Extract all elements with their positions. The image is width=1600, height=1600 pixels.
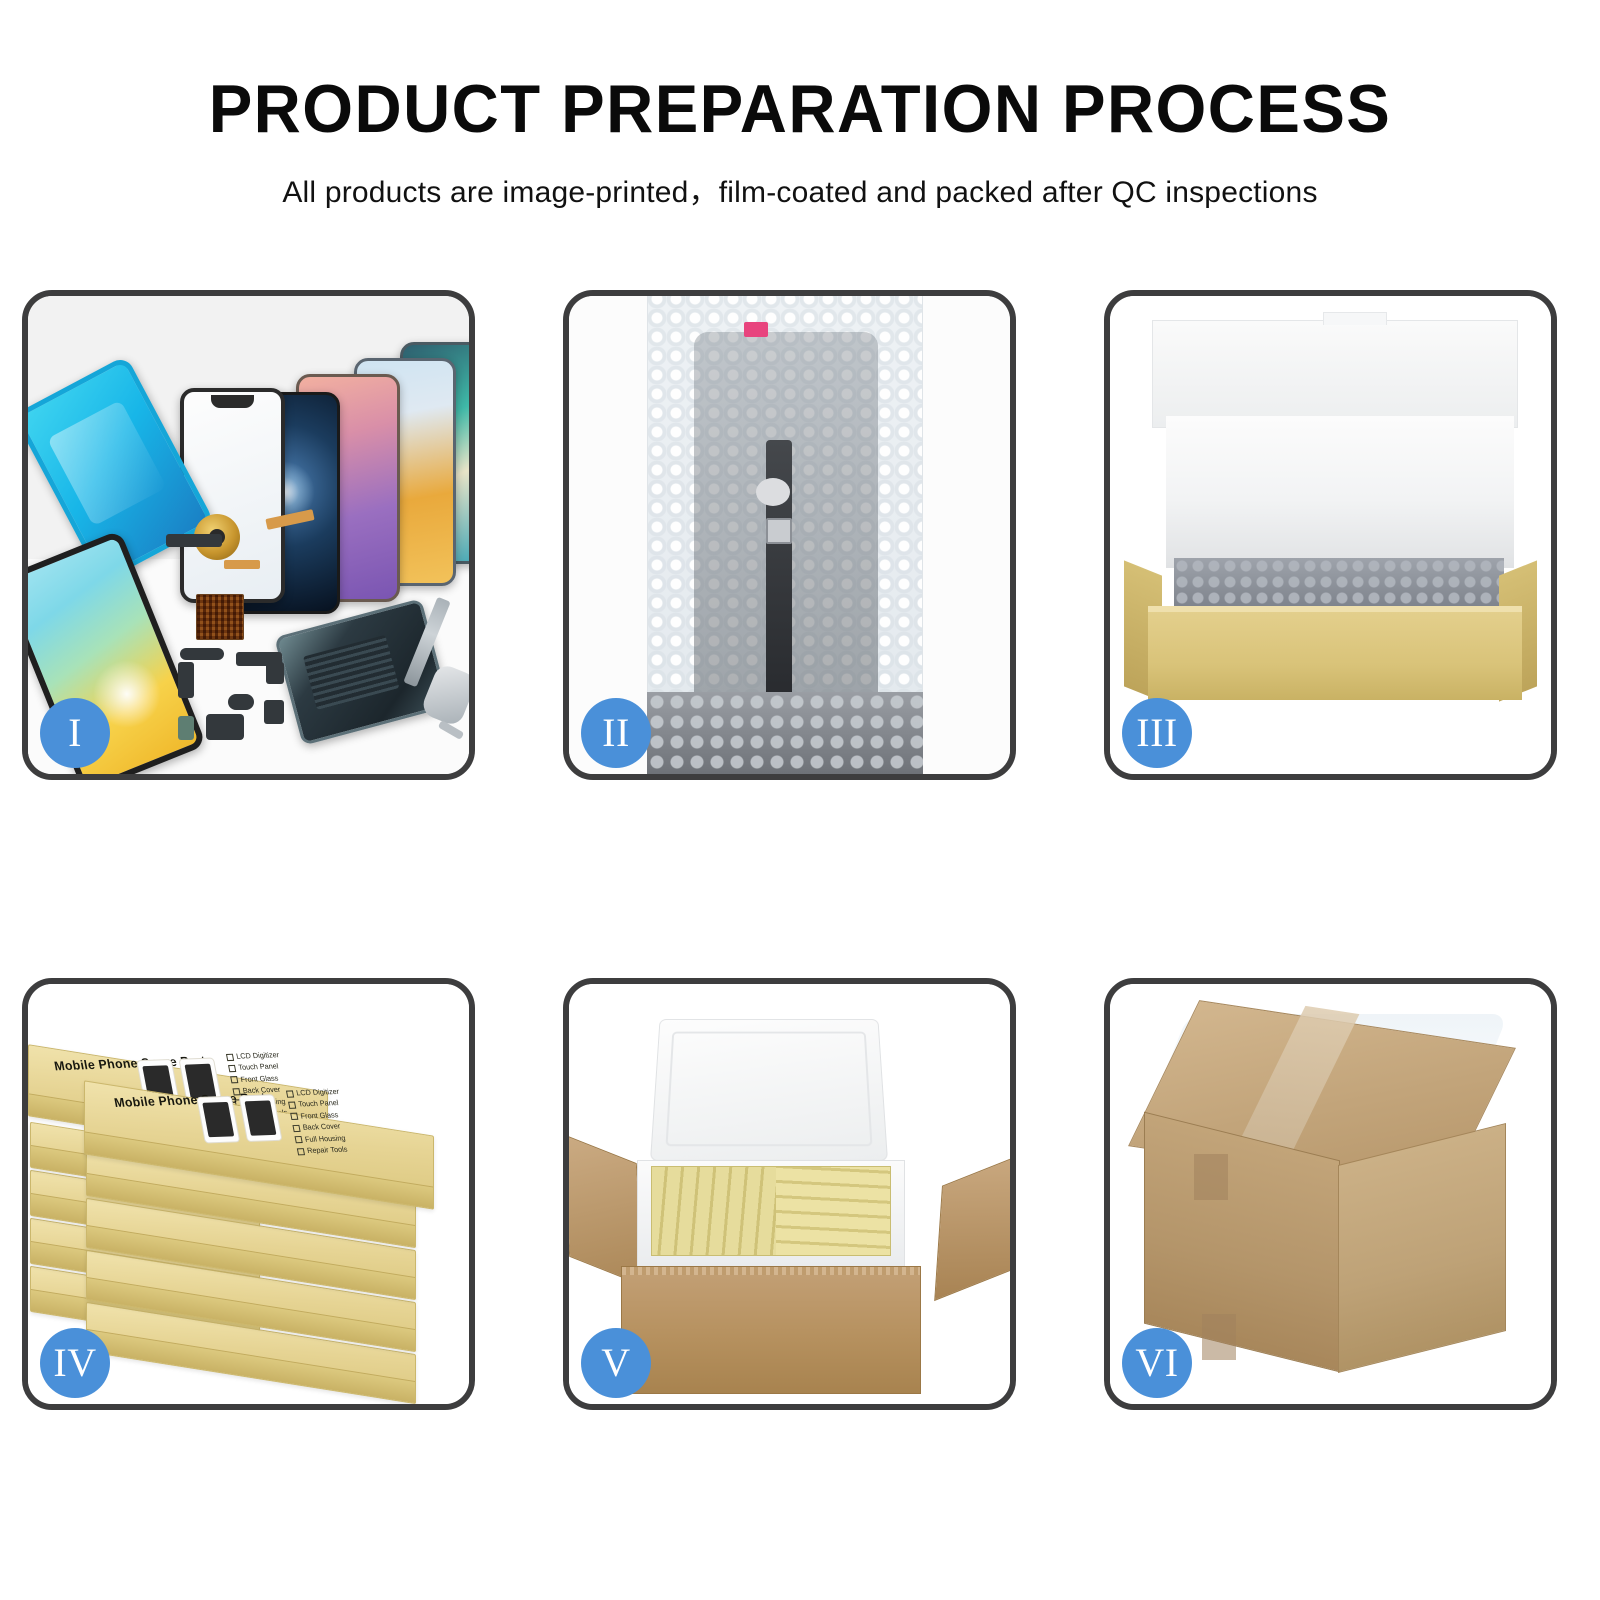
speaker-module-icon <box>166 534 222 547</box>
qc-pink-label-icon <box>744 322 768 337</box>
step-badge-2: II <box>581 698 651 768</box>
connector-part-icon <box>178 716 194 740</box>
ic-chip-icon <box>196 594 244 640</box>
carton-right-panel-icon <box>1338 1123 1506 1373</box>
bubble-wrap-bottom-icon <box>647 692 923 774</box>
retail-box-label-2: Mobile Phone Spare Parts LCD Digitizer T… <box>113 1086 410 1147</box>
lcd-connector-icon <box>756 478 790 506</box>
step-badge-4: IV <box>40 1328 110 1398</box>
checklist-item: Repair Tools <box>296 1144 351 1157</box>
sim-tray-icon <box>264 700 284 724</box>
page-subtitle: All products are image-printed，film-coat… <box>0 167 1600 211</box>
header: PRODUCT PREPARATION PROCESS All products… <box>0 0 1600 211</box>
flex-cable-part-icon <box>180 648 224 660</box>
retail-box-phone-img <box>196 1096 240 1144</box>
step-badge-3: III <box>1122 698 1192 768</box>
step-badge-1: I <box>40 698 110 768</box>
process-step-grid: I II <box>22 290 1578 1410</box>
gold-boxes-inside-icon <box>651 1166 891 1256</box>
lcd-driver-chip-icon <box>766 518 792 544</box>
vibration-motor-icon <box>228 694 254 710</box>
step-card-5[interactable]: V <box>563 978 1016 1410</box>
step-image-2 <box>569 296 1010 774</box>
white-foam-sheet-icon <box>1166 416 1514 568</box>
step-card-3[interactable]: III <box>1104 290 1557 780</box>
styrofoam-lid-icon <box>650 1019 888 1161</box>
carton-front-panel-icon <box>621 1266 921 1394</box>
page-title: PRODUCT PREPARATION PROCESS <box>32 74 1568 145</box>
earpiece-module-icon <box>206 714 244 740</box>
step-card-4[interactable]: Mobile Phone Spare Parts LCD Digitizer T… <box>22 978 475 1410</box>
step-badge-6: VI <box>1122 1328 1192 1398</box>
step-image-3 <box>1110 296 1551 774</box>
step-card-1[interactable]: I <box>22 290 475 780</box>
step-badge-5: V <box>581 1328 651 1398</box>
carton-seal-bottom-icon <box>1202 1314 1236 1360</box>
gold-box-front-icon <box>1148 612 1522 700</box>
retail-box-phone-images-2 <box>196 1094 282 1143</box>
step-card-2[interactable]: II <box>563 290 1016 780</box>
camera-flex-icon <box>178 662 194 698</box>
box-lid-icon <box>1152 320 1518 428</box>
carton-seal-top-icon <box>1194 1154 1228 1200</box>
orange-flex-cable-2-icon <box>224 560 260 569</box>
power-flex-icon <box>266 662 284 684</box>
step-card-6[interactable]: VI <box>1104 978 1557 1410</box>
step-image-1 <box>28 296 469 774</box>
